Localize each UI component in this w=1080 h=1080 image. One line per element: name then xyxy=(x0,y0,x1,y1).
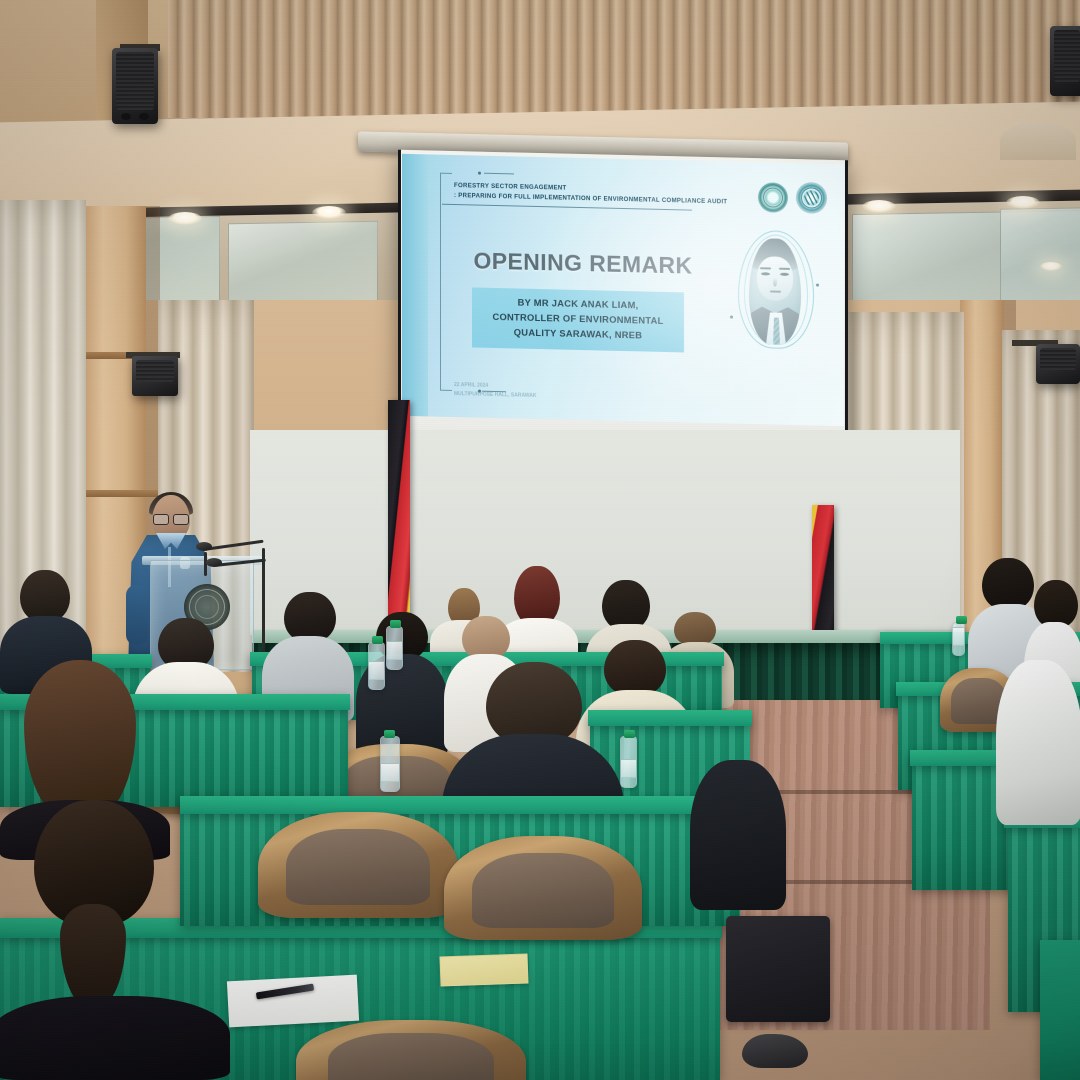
water-bottle-1 xyxy=(368,642,385,690)
slide-corner-frame xyxy=(440,173,452,391)
audience-person-foreground xyxy=(0,800,230,1080)
person-head xyxy=(20,570,70,622)
bottle-label xyxy=(953,627,964,646)
ceiling-dome-ornament xyxy=(1000,122,1076,160)
portrait-nose xyxy=(773,278,777,287)
logo-inner-ring xyxy=(763,187,783,207)
wall-speaker-left-lower xyxy=(132,356,178,396)
person-ponytail xyxy=(60,904,126,1010)
slide-dot-top xyxy=(478,172,481,175)
portrait-dot-left xyxy=(730,316,733,319)
person-head xyxy=(1034,580,1078,628)
downlight-5 xyxy=(1040,262,1062,271)
slide-left-accent-band xyxy=(402,154,428,417)
speaker-grille xyxy=(1054,30,1080,82)
portrait-tie xyxy=(773,318,780,345)
slide-tick-top xyxy=(484,173,514,175)
person-head xyxy=(284,592,336,642)
bottle-cap xyxy=(384,730,395,738)
projected-slide: FORESTRY SECTOR ENGAGEMENT : PREPARING F… xyxy=(402,154,844,426)
portrait-eye-right xyxy=(780,273,789,276)
portrait-dot-right xyxy=(816,284,819,287)
backpack xyxy=(726,916,830,1022)
slide-portrait xyxy=(732,224,820,354)
microphone-head-1 xyxy=(196,542,212,551)
shoe xyxy=(742,1034,808,1068)
logo-stripe-mark xyxy=(804,190,819,205)
portrait-figure xyxy=(749,238,801,345)
bottle-cap xyxy=(372,636,383,644)
sarawak-flag-right xyxy=(812,505,834,635)
downlight-3 xyxy=(862,200,896,213)
chair-pad xyxy=(286,829,430,905)
speaker-port-a xyxy=(121,113,131,120)
speaker-grille xyxy=(1040,348,1076,370)
slide-subtitle-box: BY MR JACK ANAK LIAM, CONTROLLER OF ENVI… xyxy=(472,287,684,352)
audience-person-right-3 xyxy=(996,660,1080,825)
portrait-mouth xyxy=(770,290,781,292)
chair-front-1 xyxy=(258,812,458,918)
person-body xyxy=(996,660,1080,825)
chair-pad xyxy=(328,1033,494,1080)
bottle-label xyxy=(381,763,399,782)
slide-footer: 22 APRIL 2024 MULTIPURPOSE HALL, SARAWAK xyxy=(454,381,654,403)
sarawak-agency-logo-icon xyxy=(796,182,827,214)
person-head-hair xyxy=(24,660,136,820)
person-body xyxy=(0,996,230,1080)
table-far-right-edge xyxy=(1040,940,1080,1080)
microphone-head-2 xyxy=(206,558,222,567)
crest-inner-ring xyxy=(195,595,219,619)
downlight-2 xyxy=(312,206,346,219)
nreb-seal-logo-icon xyxy=(758,182,788,213)
wall-speaker-top-right xyxy=(1050,26,1080,96)
bottle-cap xyxy=(390,620,401,628)
chair-pad xyxy=(472,853,615,928)
speaker-grille xyxy=(136,360,174,382)
bottle-cap xyxy=(956,616,967,624)
bottle-cap xyxy=(624,730,635,738)
portrait-brow-left xyxy=(760,267,771,269)
water-bottle-2 xyxy=(386,626,403,670)
water-bottle-3 xyxy=(380,736,400,792)
speaker-port-b xyxy=(139,113,149,120)
bottle-label xyxy=(387,641,402,660)
conference-hall-photo: FORESTRY SECTOR ENGAGEMENT : PREPARING F… xyxy=(0,0,1080,1080)
sarawak-flag-left xyxy=(388,400,410,635)
yellow-feedback-card xyxy=(440,953,529,986)
speaker-grille xyxy=(116,52,154,110)
slide-title: OPENING REMARK xyxy=(454,247,712,280)
chair-front-2 xyxy=(444,836,642,940)
water-bottle-5 xyxy=(952,622,965,656)
downlight-4 xyxy=(1006,196,1040,209)
presenter-glasses xyxy=(153,514,189,523)
portrait-brow-right xyxy=(779,268,790,270)
person-head xyxy=(602,580,650,630)
person-body xyxy=(690,760,786,910)
bottle-label xyxy=(369,661,384,680)
wall-speaker-right-lower xyxy=(1036,344,1080,384)
chair-front-3 xyxy=(296,1020,526,1080)
downlight-1 xyxy=(168,212,202,225)
acoustic-panel-ribs xyxy=(162,0,1080,118)
portrait-eye-left xyxy=(761,272,770,275)
wall-speaker-top-left xyxy=(112,48,158,124)
